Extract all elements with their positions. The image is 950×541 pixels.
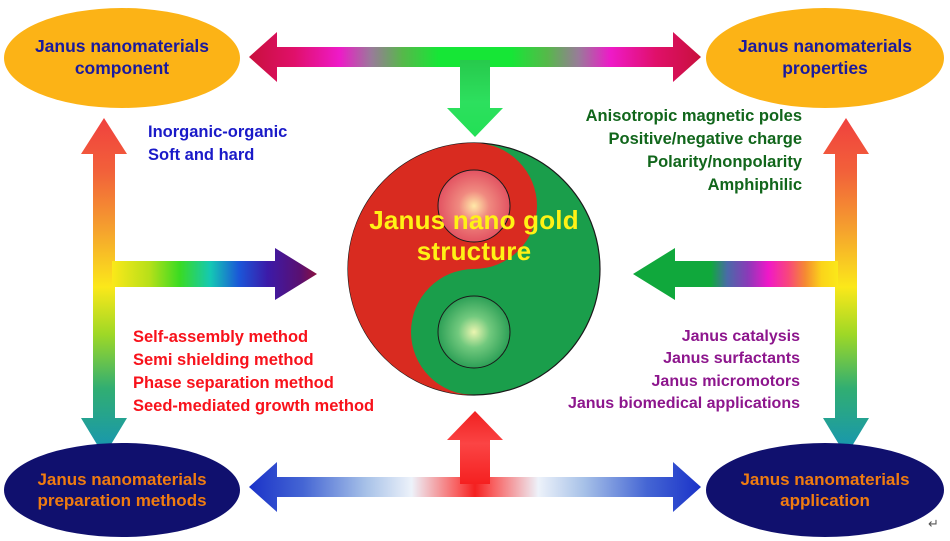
text-line: Self-assembly method xyxy=(133,326,443,349)
node-preparation-line1: Janus nanomaterials xyxy=(37,469,206,490)
node-component-line2: component xyxy=(35,58,209,80)
node-application-line1: Janus nanomaterials xyxy=(740,469,909,490)
text-block-properties: Anisotropic magnetic polesPositive/negat… xyxy=(512,105,802,197)
text-block-component: Inorganic-organicSoft and hard xyxy=(148,121,358,167)
center-label-line1: Janus nano xyxy=(369,205,515,235)
node-preparation-line2: preparation methods xyxy=(37,490,206,511)
node-janus-nanomaterials-component[interactable]: Janus nanomaterials component xyxy=(4,8,240,108)
arrow-right-branch-left xyxy=(633,248,838,300)
text-line: Janus micromotors xyxy=(500,371,800,393)
node-janus-nanomaterials-preparation-methods[interactable]: Janus nanomaterials preparation methods xyxy=(4,443,240,537)
text-line: Amphiphilic xyxy=(512,174,802,197)
text-line: Phase separation method xyxy=(133,372,443,395)
arrow-left-branch-right xyxy=(112,248,317,300)
node-application-line2: application xyxy=(740,490,909,511)
arrow-top-branch-down xyxy=(447,60,503,137)
text-block-preparation-methods: Self-assembly methodSemi shielding metho… xyxy=(133,326,443,418)
text-line: Janus catalysis xyxy=(500,326,800,348)
text-line: Seed-mediated growth method xyxy=(133,395,443,418)
diagram-canvas: Janus nano gold structure Janus nanomate… xyxy=(0,0,950,541)
text-line: Janus surfactants xyxy=(500,348,800,370)
text-block-application: Janus catalysisJanus surfactantsJanus mi… xyxy=(500,326,800,416)
node-properties-line2: properties xyxy=(738,58,912,80)
node-component-line1: Janus nanomaterials xyxy=(35,36,209,58)
text-line: Janus biomedical applications xyxy=(500,393,800,415)
text-line: Soft and hard xyxy=(148,144,358,167)
text-line: Inorganic-organic xyxy=(148,121,358,144)
text-line: Polarity/nonpolarity xyxy=(512,151,802,174)
text-line: Semi shielding method xyxy=(133,349,443,372)
text-line: Positive/negative charge xyxy=(512,128,802,151)
center-label: Janus nano gold structure xyxy=(345,205,603,266)
arrow-bottom-branch-up xyxy=(447,411,503,484)
text-line: Anisotropic magnetic poles xyxy=(512,105,802,128)
node-janus-nanomaterials-properties[interactable]: Janus nanomaterials properties xyxy=(706,8,944,108)
node-janus-nanomaterials-application[interactable]: Janus nanomaterials application xyxy=(706,443,944,537)
paragraph-mark-artifact: ↵ xyxy=(928,516,939,532)
node-properties-line1: Janus nanomaterials xyxy=(738,36,912,58)
